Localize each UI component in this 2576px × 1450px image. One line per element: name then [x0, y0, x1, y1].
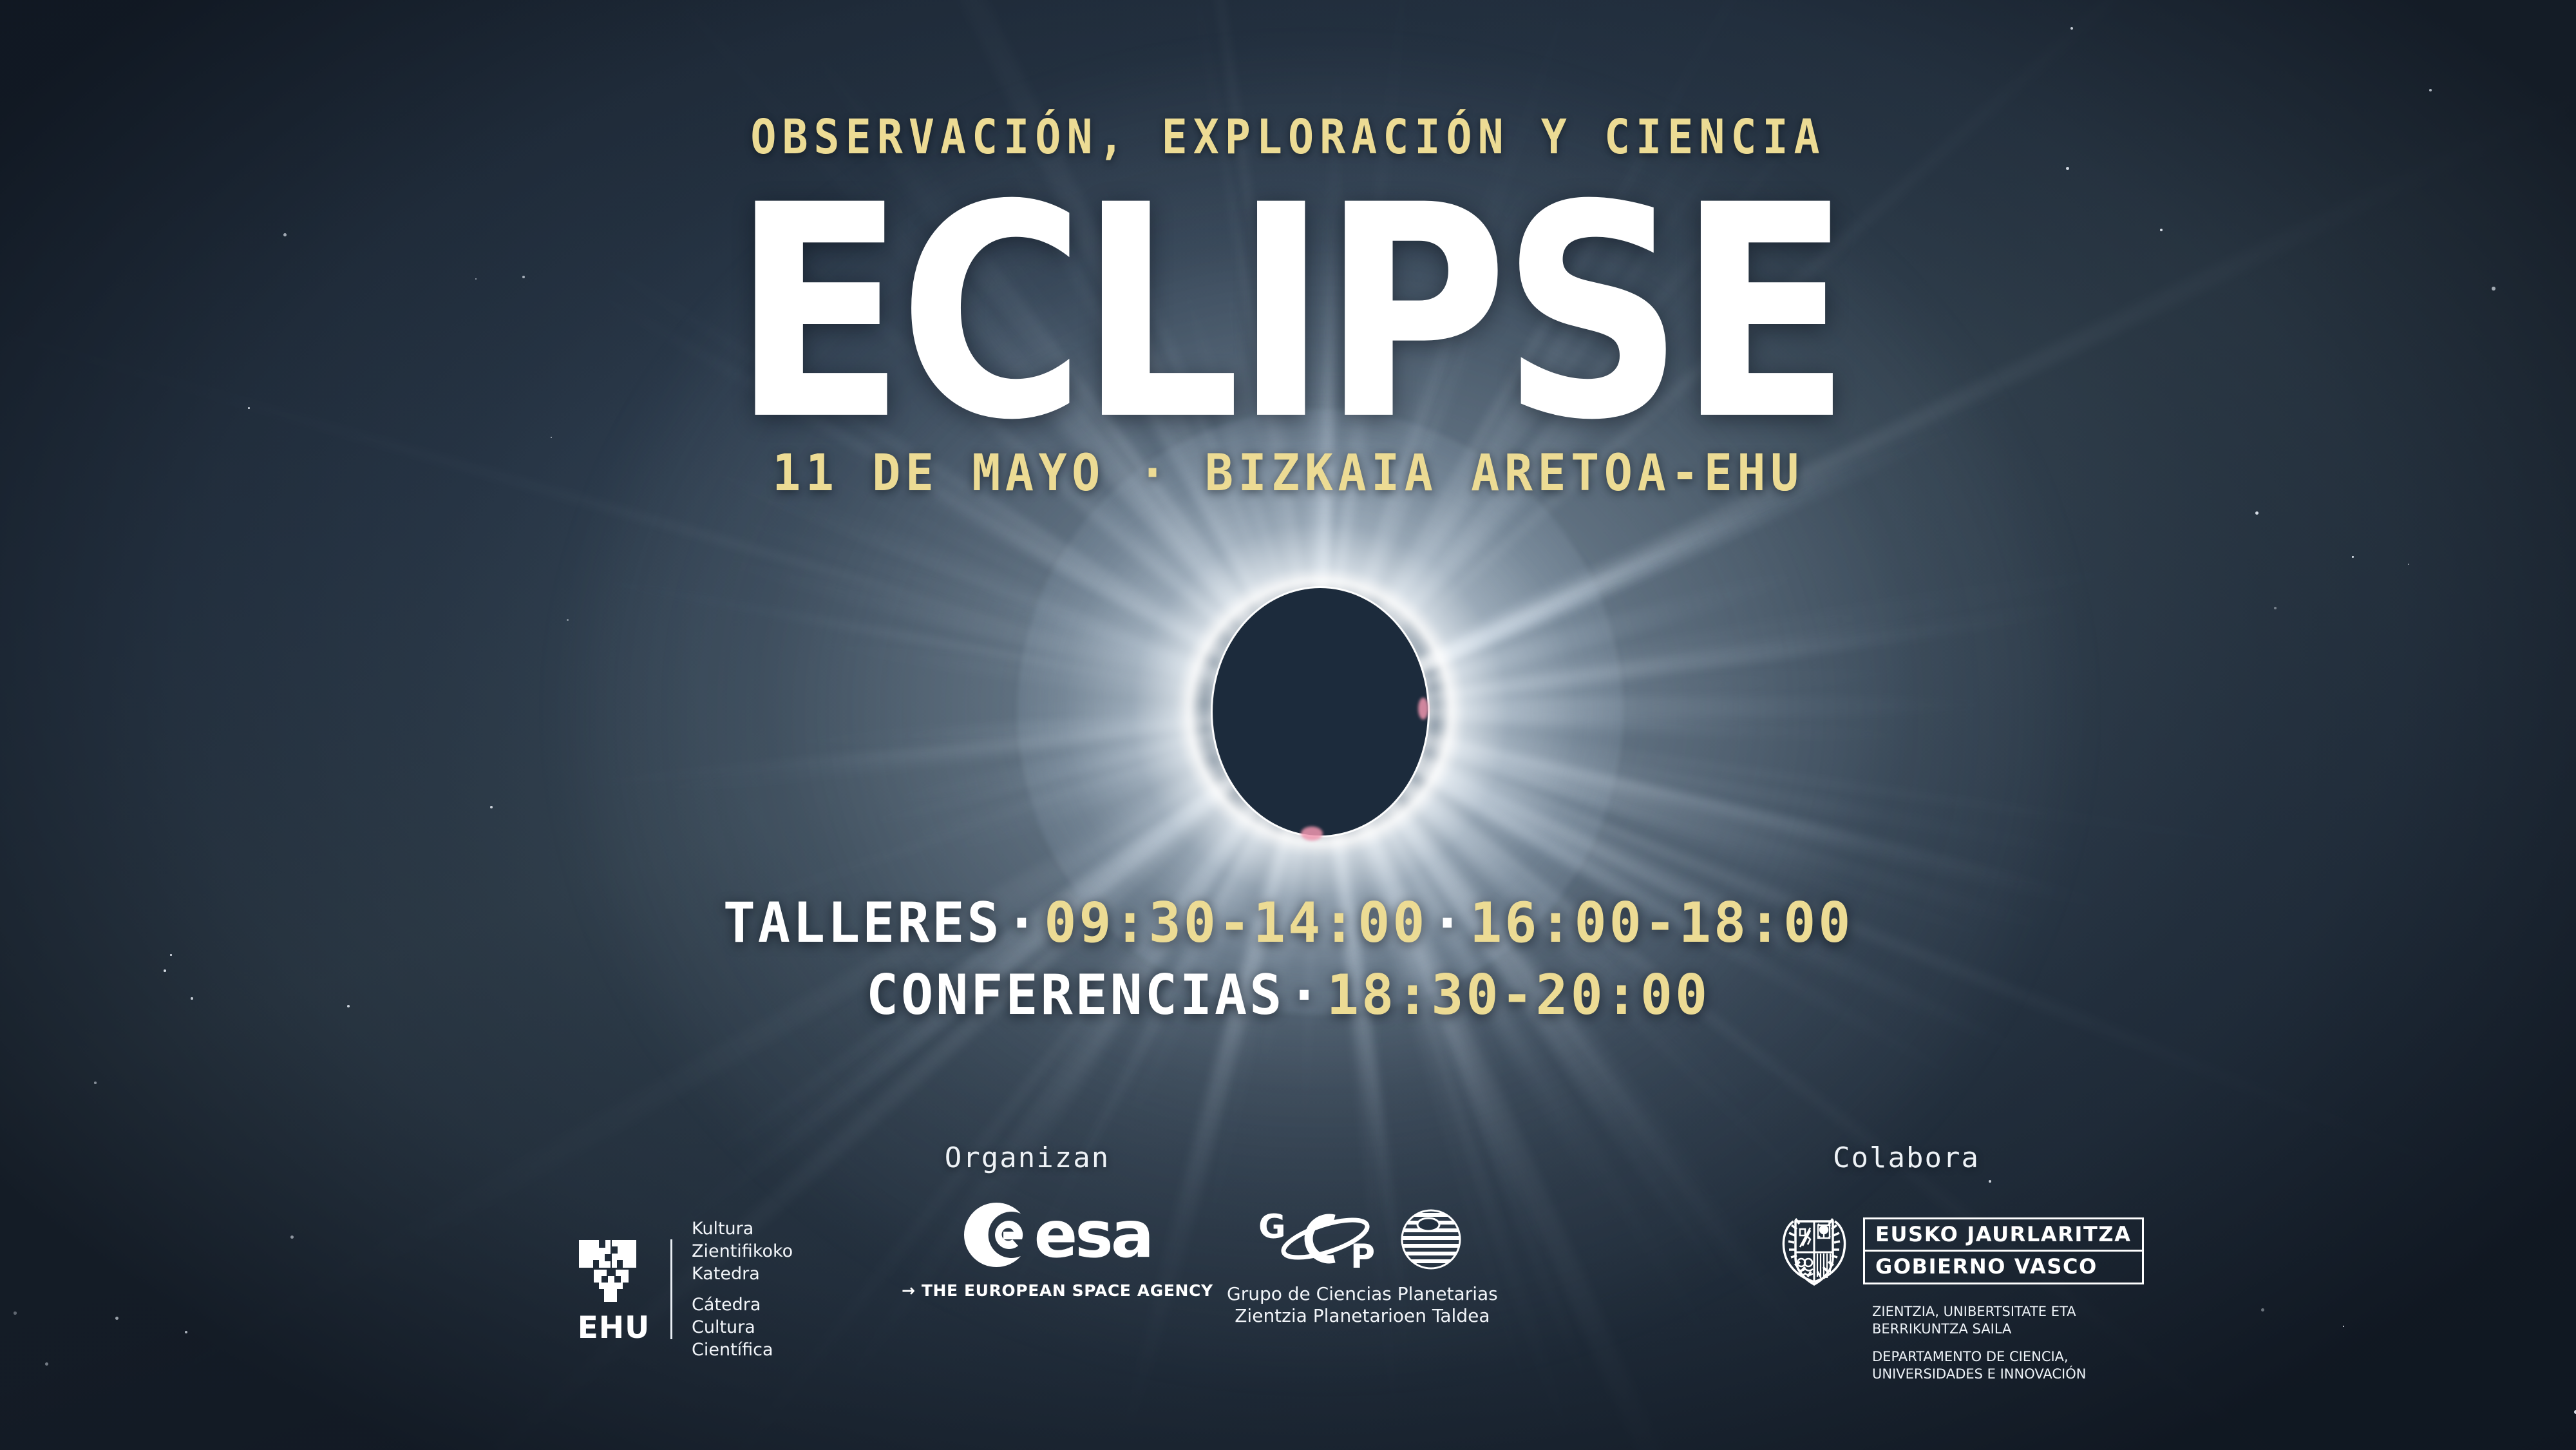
logo-eusko-jaurlaritza-gobierno-vasco[interactable]: EUSKO JAURLARITZA GOBIERNO VASCO ZIENTZI…: [1774, 1210, 2144, 1383]
gv-name-box: EUSKO JAURLARITZA GOBIERNO VASCO: [1863, 1217, 2144, 1284]
eclipse-event-poster: OBSERVACIÓN, EXPLORACIÓN Y CIENCIA ECLIP…: [0, 0, 2576, 1450]
star: [2070, 27, 2073, 30]
esa-wordmark: esa: [1034, 1210, 1151, 1260]
workshops-time-2: 16:00-18:00: [1470, 891, 1853, 955]
logo-ehu-catedra-cultura-cientifica[interactable]: EHU Kultura Zientifikoko Katedra Cátedra…: [576, 1217, 793, 1362]
poster-title-eclipse: ECLIPSE: [103, 196, 2473, 432]
star: [490, 806, 493, 808]
gv-name-spanish: GOBIERNO VASCO: [1875, 1254, 2132, 1279]
ehu-descriptor-text: Kultura Zientifikoko Katedra Cátedra Cul…: [692, 1217, 793, 1362]
star: [2274, 607, 2277, 609]
ehu-basque-line-1: Kultura: [692, 1217, 793, 1240]
gcp-descriptor-text: Grupo de Ciencias Planetarias Zientzia P…: [1227, 1283, 1498, 1327]
gv-department-text: ZIENTZIA, UNIBERTSITATE ETA BERRIKUNTZA …: [1872, 1303, 2144, 1383]
gcp-planets-icon: G P: [1256, 1205, 1468, 1274]
poster-dateline: 11 DE MAYO · BIZKAIA ARETOA-EHU: [77, 444, 2499, 502]
workshops-separator-1: ·: [1002, 891, 1045, 955]
logo-grupo-ciencias-planetarias[interactable]: G P: [1227, 1205, 1498, 1327]
ehu-basque-line-3: Katedra: [692, 1263, 793, 1285]
gv-logo-row: EUSKO JAURLARITZA GOBIERNO VASCO: [1774, 1210, 2144, 1292]
ehu-spanish-line-1: Cátedra: [692, 1293, 793, 1316]
ehu-chillida-mark-icon: [576, 1236, 651, 1308]
ehu-basque-line-2: Zientifikoko: [692, 1240, 793, 1263]
workshops-separator-2: ·: [1427, 891, 1470, 955]
gcp-name-basque: Zientzia Planetarioen Taldea: [1227, 1305, 1498, 1327]
ehu-spanish-line-2: Cultura: [692, 1316, 793, 1339]
schedule-row-talks: CONFERENCIAS·18:30-20:00: [39, 960, 2537, 1032]
logo-european-space-agency[interactable]: esa → THE EUROPEAN SPACE AGENCY: [902, 1201, 1213, 1300]
gv-dept-spanish-2: UNIVERSIDADES E INNOVACIÓN: [1872, 1366, 2144, 1383]
talks-separator: ·: [1284, 963, 1327, 1027]
esa-tagline: → THE EUROPEAN SPACE AGENCY: [902, 1281, 1213, 1300]
esa-disc-icon: [963, 1201, 1030, 1268]
poster-footer: Organizan Colabora EHU Kultura Zientifik…: [0, 1134, 2576, 1411]
star: [94, 1082, 97, 1084]
workshops-label: TALLERES: [723, 891, 1002, 955]
ehu-wordmark: EHU: [578, 1313, 650, 1343]
ehu-spanish-line-3: Científica: [692, 1339, 793, 1361]
svg-text:G: G: [1258, 1208, 1286, 1246]
svg-text:P: P: [1350, 1237, 1375, 1274]
gv-name-divider: [1865, 1250, 2142, 1252]
schedule-block: TALLERES·09:30-14:00·16:00-18:00 CONFERE…: [0, 888, 2576, 1032]
collaborator-label: Colabora: [1771, 1141, 2041, 1174]
talks-label: CONFERENCIAS: [866, 963, 1284, 1027]
organizers-label: Organizan: [889, 1141, 1166, 1174]
workshops-time-1: 09:30-14:00: [1044, 891, 1427, 955]
star: [2492, 287, 2495, 291]
talks-time-1: 18:30-20:00: [1327, 963, 1710, 1027]
basque-coat-of-arms-icon: [1774, 1210, 1854, 1292]
ehu-divider: [670, 1239, 672, 1339]
schedule-row-workshops: TALLERES·09:30-14:00·16:00-18:00: [39, 888, 2537, 960]
gcp-name-spanish: Grupo de Ciencias Planetarias: [1227, 1283, 1498, 1305]
gv-dept-spanish-1: DEPARTAMENTO DE CIENCIA,: [1872, 1348, 2144, 1366]
gv-dept-basque-1: ZIENTZIA, UNIBERTSITATE ETA: [1872, 1303, 2144, 1321]
esa-logo-row: esa: [963, 1201, 1151, 1268]
gv-name-basque: EUSKO JAURLARITZA: [1875, 1222, 2132, 1247]
ehu-logo-group: EHU: [576, 1236, 651, 1343]
gv-dept-basque-2: BERRIKUNTZA SAILA: [1872, 1321, 2144, 1338]
